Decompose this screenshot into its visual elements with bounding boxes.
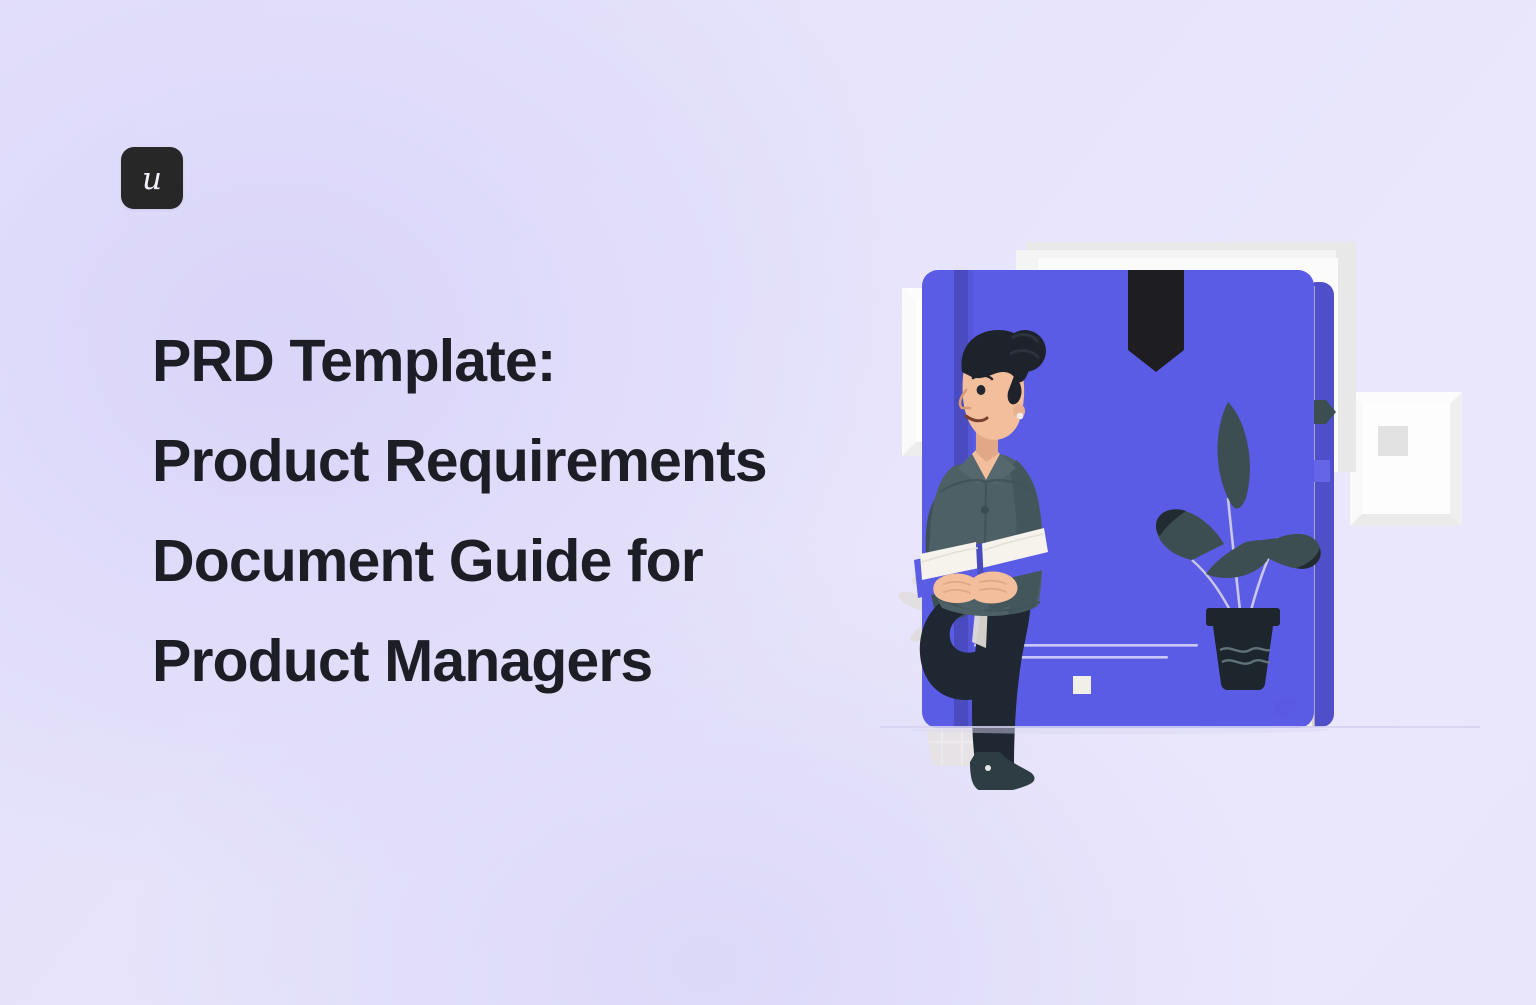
logo-letter-u: u bbox=[142, 164, 162, 195]
picture-frame-right-icon bbox=[1350, 392, 1462, 526]
userpilot-logo[interactable]: u bbox=[121, 147, 183, 209]
hero-illustration bbox=[880, 230, 1480, 790]
shoe-icon bbox=[970, 752, 1035, 790]
page-title: PRD Template: Product Requirements Docum… bbox=[152, 311, 912, 711]
hero-card: u PRD Template: Product Requirements Doc… bbox=[0, 0, 1536, 1005]
